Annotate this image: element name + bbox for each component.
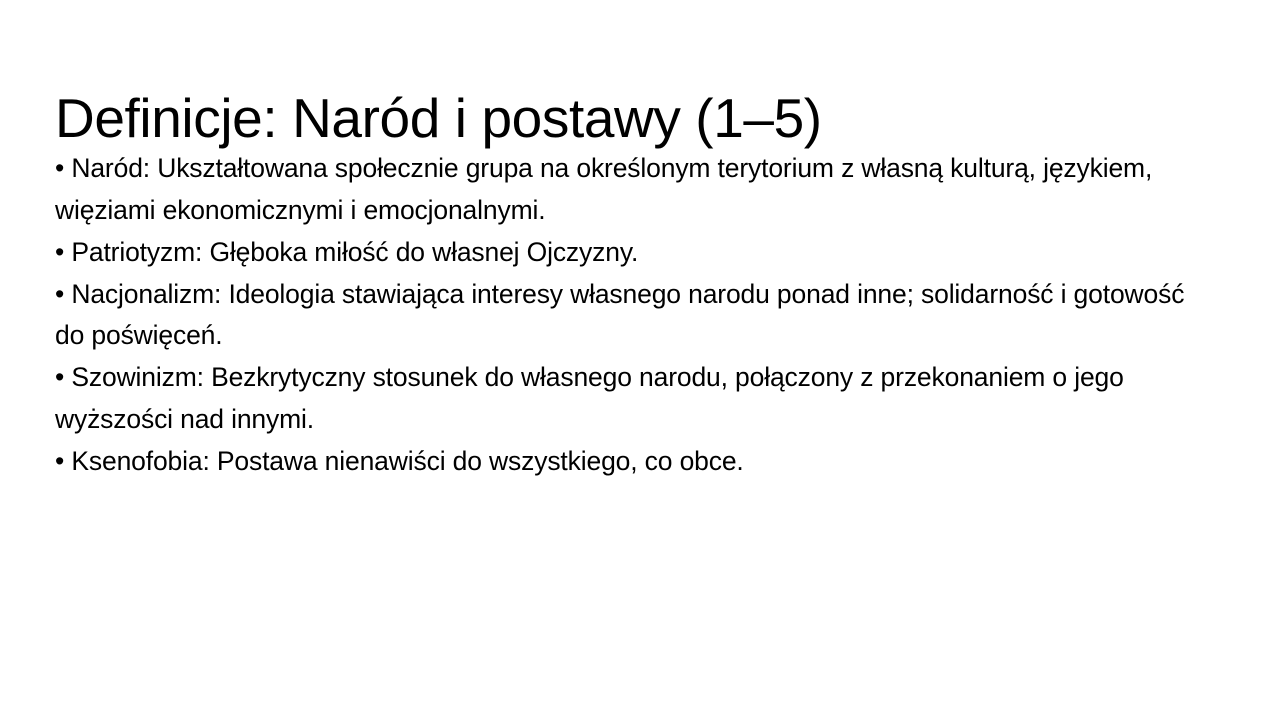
bullet-point-icon: • [55, 362, 64, 392]
list-item: • Naród: Ukształtowana społecznie grupa … [55, 148, 1220, 231]
bullet-point-icon: • [55, 237, 64, 267]
bullet-point-icon: • [55, 279, 64, 309]
slide-title: Definicje: Naród i postawy (1–5) [55, 85, 1225, 151]
bullet-list: • Naród: Ukształtowana społecznie grupa … [55, 148, 1220, 483]
presentation-slide: Definicje: Naród i postawy (1–5) • Naród… [0, 0, 1280, 720]
list-item: • Szowinizm: Bezkrytyczny stosunek do wł… [55, 357, 1220, 440]
list-item-text: Ksenofobia: Postawa nienawiści do wszyst… [64, 446, 744, 476]
list-item-text: Naród: Ukształtowana społecznie grupa na… [55, 153, 1152, 225]
list-item: • Ksenofobia: Postawa nienawiści do wszy… [55, 441, 1220, 483]
bullet-point-icon: • [55, 153, 64, 183]
list-item: • Nacjonalizm: Ideologia stawiająca inte… [55, 274, 1220, 357]
list-item: • Patriotyzm: Głęboka miłość do własnej … [55, 232, 1220, 274]
list-item-text: Nacjonalizm: Ideologia stawiająca intere… [55, 279, 1184, 351]
list-item-text: Patriotyzm: Głęboka miłość do własnej Oj… [64, 237, 638, 267]
list-item-text: Szowinizm: Bezkrytyczny stosunek do włas… [55, 362, 1124, 434]
bullet-point-icon: • [55, 446, 64, 476]
